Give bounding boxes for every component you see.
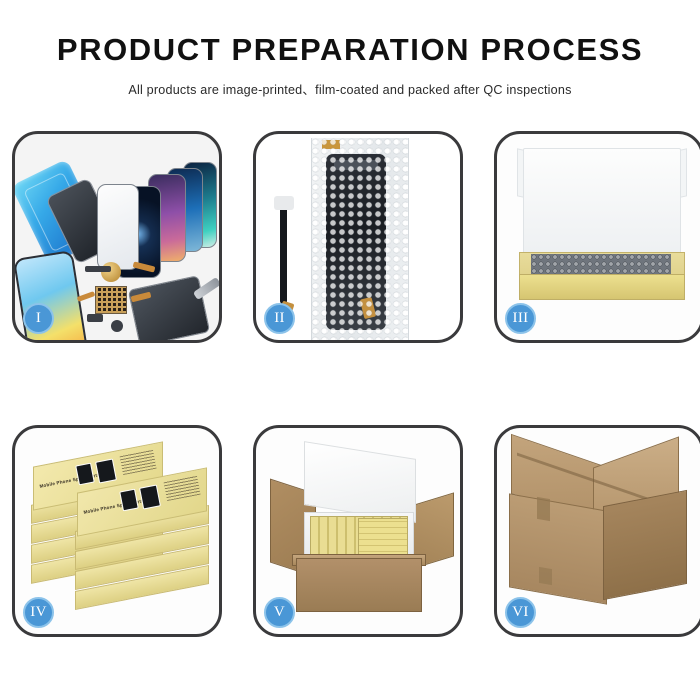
process-step-grid: I II [12, 131, 688, 637]
step-badge-6: VI [505, 597, 536, 628]
flex-cable-shape [77, 291, 96, 302]
step-badge-5: V [264, 597, 295, 628]
process-step-card-2: II [253, 131, 463, 343]
phone-screen-glass-shape [97, 184, 139, 270]
product-preparation-process-page: PRODUCT PREPARATION PROCESS All products… [0, 0, 700, 700]
carton-face-left-shape [509, 493, 607, 604]
small-part-shape [87, 314, 103, 322]
box-window-shape [95, 458, 117, 483]
carton-tape-lower-shape [539, 567, 552, 585]
step-badge-1: I [23, 303, 54, 334]
small-part-shape [85, 266, 111, 272]
foam-lid-shape [304, 441, 416, 523]
wrapped-part-shape [326, 154, 386, 330]
page-header: PRODUCT PREPARATION PROCESS All products… [0, 0, 700, 98]
step-badge-4: IV [23, 597, 54, 628]
back-panel-shape [128, 275, 210, 340]
small-part-shape [111, 320, 123, 332]
cable-shape [280, 204, 287, 304]
yellow-boxes-group-b-shape [358, 518, 408, 558]
connector-shape [274, 196, 294, 210]
carton-face-right-shape [603, 490, 687, 600]
carton-tape-upper-shape [537, 497, 550, 521]
process-step-card-1: I [12, 131, 222, 343]
yellow-tray-front-shape [519, 274, 685, 300]
box-window-shape [139, 484, 161, 509]
process-step-card-3: III [494, 131, 700, 343]
white-lid-shape [523, 148, 681, 266]
process-step-card-5: V [253, 425, 463, 637]
chip-grid-shape [95, 286, 127, 314]
speaker-module-shape [101, 262, 121, 282]
page-title: PRODUCT PREPARATION PROCESS [0, 34, 700, 65]
tape-shape [322, 140, 340, 149]
carton-front-shape [296, 558, 422, 612]
process-step-card-4: Mobile Phone Spare Parts Mobile Phone Sp… [12, 425, 222, 637]
process-step-card-6: VI [494, 425, 700, 637]
step-badge-3: III [505, 303, 536, 334]
page-subtitle: All products are image-printed、film-coat… [0, 79, 700, 98]
step-badge-2: II [264, 303, 295, 334]
